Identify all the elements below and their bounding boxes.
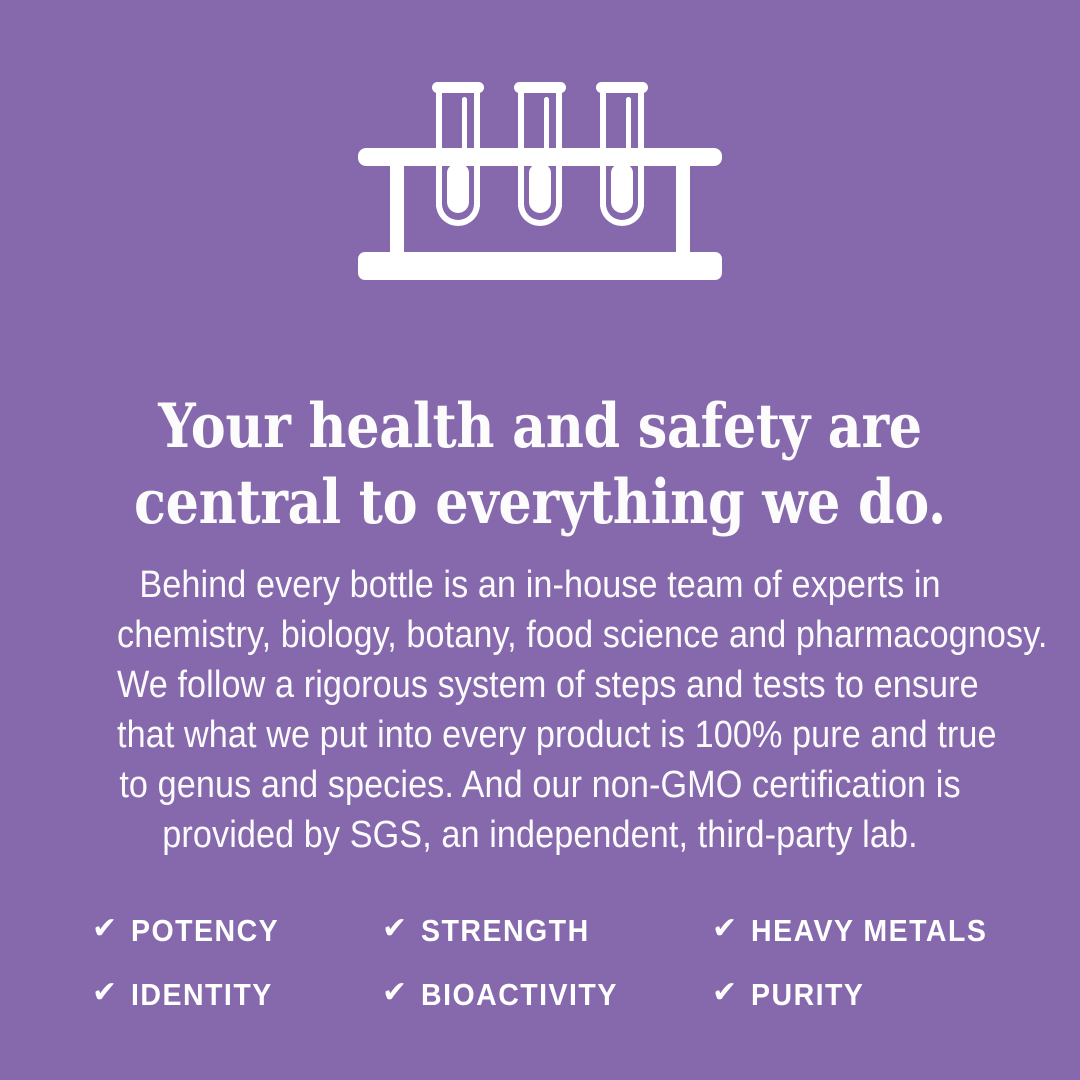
rack-shelf: [358, 148, 722, 166]
headline-line-1: Your health and safety are: [127, 389, 953, 465]
rack-base: [358, 252, 722, 280]
check-icon: ✔: [712, 914, 737, 944]
check-icon: ✔: [92, 914, 117, 944]
body-line-4: that what we put into every product is 1…: [117, 710, 963, 760]
body-line-2: chemistry, biology, botany, food science…: [117, 610, 963, 660]
checklist-item-bioactivity: ✔ BIOACTIVITY: [382, 979, 712, 1010]
checklist-item-identity: ✔ IDENTITY: [92, 979, 382, 1010]
checklist-item-label: POTENCY: [131, 915, 279, 946]
test-checklist: ✔ POTENCY ✔ STRENGTH ✔ HEAVY METALS ✔ ID…: [92, 898, 992, 1026]
check-icon: ✔: [382, 978, 407, 1008]
checklist-item-strength: ✔ STRENGTH: [382, 915, 712, 946]
check-icon: ✔: [92, 978, 117, 1008]
check-icon: ✔: [382, 914, 407, 944]
checklist-item-label: BIOACTIVITY: [421, 979, 618, 1010]
checklist-item-potency: ✔ POTENCY: [92, 915, 382, 946]
checklist-item-label: HEAVY METALS: [751, 915, 987, 946]
checklist-item-purity: ✔ PURITY: [712, 979, 992, 1010]
headline-line-2: central to everything we do.: [127, 465, 953, 541]
body-line-1: Behind every bottle is an in-house team …: [117, 560, 963, 610]
test-tube-rack-icon: [0, 64, 1080, 284]
quality-promise-card: Your health and safety are central to ev…: [0, 0, 1080, 1080]
rack-leg-left: [390, 162, 404, 258]
body-paragraph: Behind every bottle is an in-house team …: [117, 560, 963, 860]
check-icon: ✔: [712, 978, 737, 1008]
rack-leg-right: [676, 162, 690, 258]
body-line-6: provided by SGS, an independent, third-p…: [117, 810, 963, 860]
page-title: Your health and safety are central to ev…: [127, 389, 953, 541]
checklist-item-label: PURITY: [751, 979, 864, 1010]
checklist-item-label: STRENGTH: [421, 915, 590, 946]
body-line-5: to genus and species. And our non-GMO ce…: [117, 760, 963, 810]
body-line-3: We follow a rigorous system of steps and…: [117, 660, 963, 710]
checklist-item-label: IDENTITY: [131, 979, 273, 1010]
checklist-item-heavy-metals: ✔ HEAVY METALS: [712, 915, 992, 946]
